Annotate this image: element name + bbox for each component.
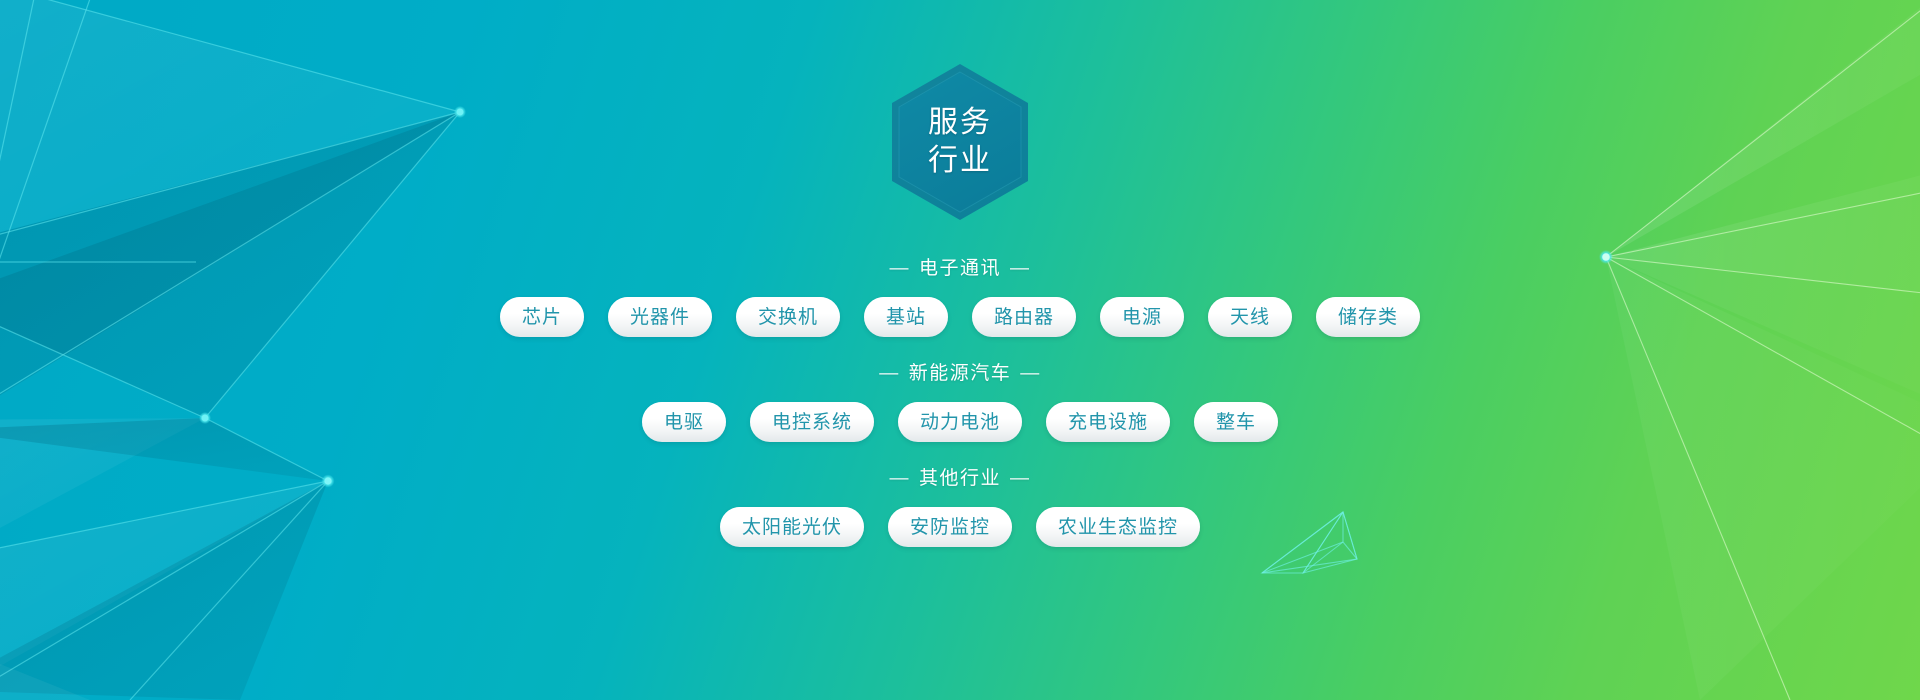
dash-right-icon: — — [1010, 258, 1031, 280]
dash-left-icon: — — [879, 363, 900, 385]
section-new-energy-vehicle: — 新能源汽车 — 电驱 电控系统 动力电池 充电设施 整车 — [0, 363, 1920, 442]
tag-charging-facility[interactable]: 充电设施 — [1046, 402, 1170, 442]
badge-label: 服务 行业 — [928, 104, 992, 180]
tag-base-station[interactable]: 基站 — [864, 297, 948, 337]
section-title: — 新能源汽车 — — [879, 363, 1041, 385]
tag-solar-photovoltaic[interactable]: 太阳能光伏 — [720, 507, 864, 547]
dash-right-icon: — — [1010, 468, 1031, 490]
tag-agricultural-ecology-monitoring[interactable]: 农业生态监控 — [1036, 507, 1200, 547]
section-title: — 电子通讯 — — [889, 258, 1030, 280]
tag-electric-drive[interactable]: 电驱 — [642, 402, 726, 442]
tag-switch[interactable]: 交换机 — [736, 297, 840, 337]
content-column: 服务 行业 — 电子通讯 — 芯片 光器件 交换机 基站 路由器 电源 天线 储… — [0, 0, 1920, 700]
tag-row: 太阳能光伏 安防监控 农业生态监控 — [720, 507, 1200, 547]
tag-power-supply[interactable]: 电源 — [1100, 297, 1184, 337]
tag-row: 芯片 光器件 交换机 基站 路由器 电源 天线 储存类 — [500, 297, 1420, 337]
section-title-text: 电子通讯 — [919, 258, 1001, 280]
tag-complete-vehicle[interactable]: 整车 — [1194, 402, 1278, 442]
dash-right-icon: — — [1020, 363, 1041, 385]
dash-left-icon: — — [889, 258, 910, 280]
service-industry-badge: 服务 行业 — [889, 62, 1031, 222]
service-industry-banner: 服务 行业 — 电子通讯 — 芯片 光器件 交换机 基站 路由器 电源 天线 储… — [0, 0, 1920, 700]
section-title-text: 其他行业 — [919, 468, 1001, 490]
dash-left-icon: — — [889, 468, 910, 490]
tag-storage[interactable]: 储存类 — [1316, 297, 1420, 337]
section-title-text: 新能源汽车 — [909, 363, 1012, 385]
badge-label-line1: 服务 — [928, 104, 992, 142]
section-electronics-communication: — 电子通讯 — 芯片 光器件 交换机 基站 路由器 电源 天线 储存类 — [0, 258, 1920, 337]
tag-antenna[interactable]: 天线 — [1208, 297, 1292, 337]
tag-electronic-control-system[interactable]: 电控系统 — [750, 402, 874, 442]
section-title: — 其他行业 — — [889, 468, 1030, 490]
tag-optical-device[interactable]: 光器件 — [608, 297, 712, 337]
tag-security-monitoring[interactable]: 安防监控 — [888, 507, 1012, 547]
tag-row: 电驱 电控系统 动力电池 充电设施 整车 — [642, 402, 1278, 442]
tag-power-battery[interactable]: 动力电池 — [898, 402, 1022, 442]
tag-chip[interactable]: 芯片 — [500, 297, 584, 337]
section-other-industries: — 其他行业 — 太阳能光伏 安防监控 农业生态监控 — [0, 468, 1920, 547]
tag-router[interactable]: 路由器 — [972, 297, 1076, 337]
badge-label-line2: 行业 — [928, 142, 992, 180]
